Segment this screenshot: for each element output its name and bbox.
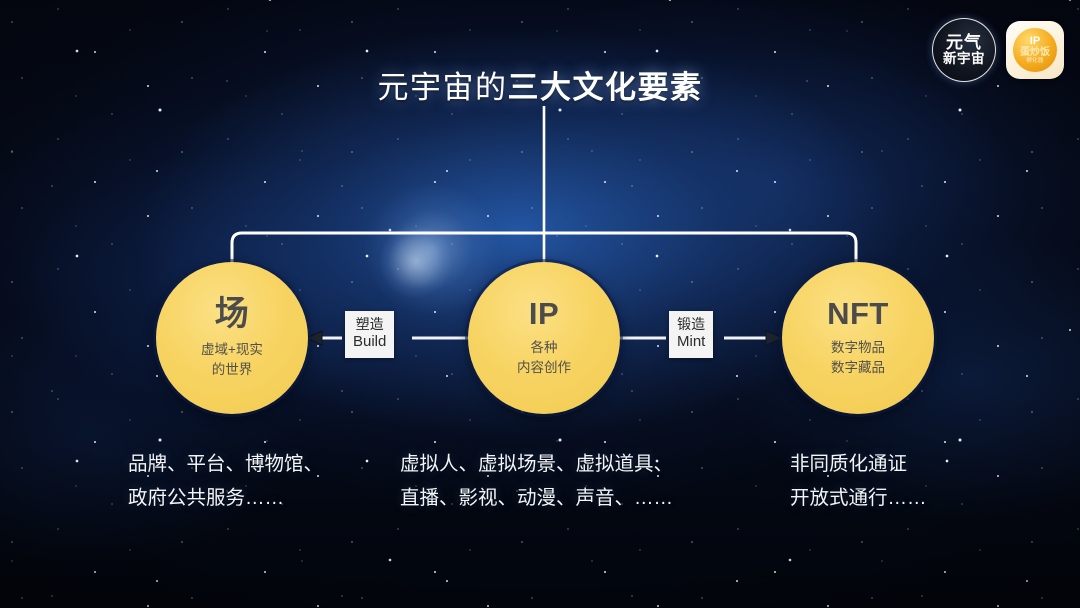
node-chang[interactable]: 场 虚域+现实 的世界 xyxy=(156,262,308,414)
slide-canvas: 元气 新宇宙 IP 蛋炒饭 孵化器 元宇宙的三大文化要素 场 虚域+现实 xyxy=(0,0,1080,608)
caption-ip-line-1: 虚拟人、虚拟场景、虚拟道具、 xyxy=(400,447,673,481)
arrow-label-build-en: Build xyxy=(353,333,386,352)
node-ip-sub-line-1: 各种 xyxy=(517,338,571,358)
arrow-label-mint-en: Mint xyxy=(677,333,705,352)
node-ip-sub-line-2: 内容创作 xyxy=(517,358,571,378)
caption-chang-line-1: 品牌、平台、博物馆、 xyxy=(128,447,323,481)
caption-nft: 非同质化通证 开放式通行…… xyxy=(790,447,927,515)
arrow-label-build: 塑造 Build xyxy=(345,311,394,358)
caption-chang: 品牌、平台、博物馆、 政府公共服务…… xyxy=(128,447,323,515)
node-nft-sub-line-1: 数字物品 xyxy=(831,338,885,358)
node-chang-subtitle: 虚域+现实 的世界 xyxy=(201,340,263,379)
node-nft[interactable]: NFT 数字物品 数字藏品 xyxy=(782,262,934,414)
app-icon-line-1: IP xyxy=(1030,36,1040,47)
caption-nft-line-1: 非同质化通证 xyxy=(790,447,927,481)
node-nft-subtitle: 数字物品 数字藏品 xyxy=(831,338,885,377)
title-emphasis: 三大文化要素 xyxy=(508,70,703,105)
node-ip-subtitle: 各种 内容创作 xyxy=(517,338,571,377)
node-nft-headline: NFT xyxy=(827,298,889,329)
caption-ip-line-2: 直播、影视、动漫、声音、…… xyxy=(400,481,673,515)
arrow-label-mint: 锻造 Mint xyxy=(669,311,713,358)
caption-nft-line-2: 开放式通行…… xyxy=(790,481,927,515)
logo-line-1: 元气 xyxy=(946,34,982,51)
arrow-label-build-cn: 塑造 xyxy=(353,316,386,333)
slide-title: 元宇宙的三大文化要素 xyxy=(0,62,1080,107)
node-ip[interactable]: IP 各种 内容创作 xyxy=(468,262,620,414)
caption-ip: 虚拟人、虚拟场景、虚拟道具、 直播、影视、动漫、声音、…… xyxy=(400,447,673,515)
node-chang-sub-line-1: 虚域+现实 xyxy=(201,340,263,360)
title-prefix: 元宇宙的 xyxy=(378,70,508,105)
caption-chang-line-2: 政府公共服务…… xyxy=(128,481,323,515)
arrow-label-mint-cn: 锻造 xyxy=(677,316,705,333)
app-icon-line-2: 蛋炒饭 xyxy=(1020,48,1050,58)
node-nft-sub-line-2: 数字藏品 xyxy=(831,358,885,378)
node-ip-headline: IP xyxy=(529,298,559,329)
node-chang-headline: 场 xyxy=(215,297,250,331)
node-chang-sub-line-2: 的世界 xyxy=(201,360,263,380)
